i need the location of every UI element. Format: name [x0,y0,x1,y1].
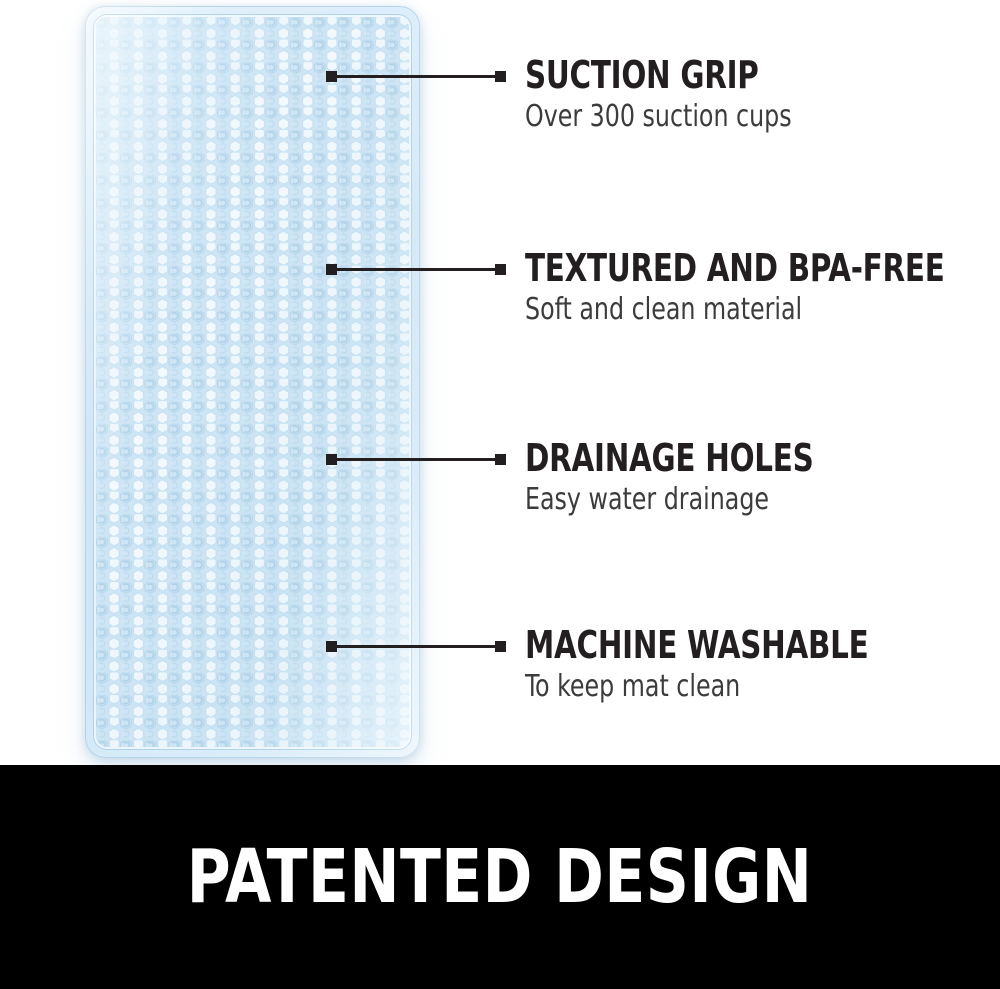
callout-subtitle-machine-washable: To keep mat clean [525,670,876,704]
banner-headline: PATENTED DESIGN [187,838,813,916]
leader-line-textured-bpa-free [328,268,504,271]
callout-title-textured-bpa-free: TEXTURED AND BPA-FREE [525,248,945,288]
product-image-stage [0,0,500,765]
patented-design-banner: PATENTED DESIGN [0,765,1000,989]
callout-textured-bpa-free: TEXTURED AND BPA-FREE Soft and clean mat… [525,248,1000,327]
callout-subtitle-drainage-holes: Easy water drainage [525,483,820,517]
infographic-page: SUCTION GRIP Over 300 suction cups TEXTU… [0,0,1000,989]
mat-texture-field [96,17,409,747]
callout-title-drainage-holes: DRAINAGE HOLES [525,438,814,478]
callout-machine-washable: MACHINE WASHABLE To keep mat clean [525,625,924,704]
callout-suction-grip: SUCTION GRIP Over 300 suction cups [525,55,828,134]
callout-title-suction-grip: SUCTION GRIP [525,55,786,95]
callout-drainage-holes: DRAINAGE HOLES Easy water drainage [525,438,861,517]
callout-title-machine-washable: MACHINE WASHABLE [525,625,868,665]
leader-line-drainage-holes [328,458,504,461]
callout-subtitle-textured-bpa-free: Soft and clean material [525,293,954,327]
leader-line-suction-grip [328,75,504,78]
leader-line-machine-washable [328,645,504,648]
mat-hole-pattern-svg [96,17,409,747]
callout-subtitle-suction-grip: Over 300 suction cups [525,100,792,134]
